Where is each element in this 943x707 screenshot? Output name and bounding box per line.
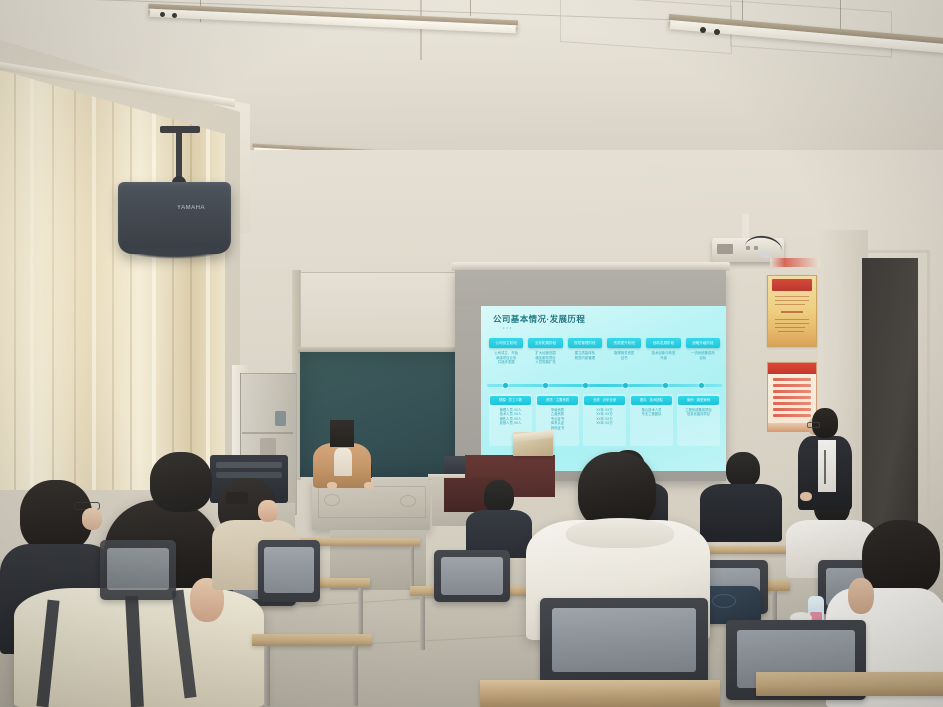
classroom-photo: YAMAHA 公司基本情况·发展历程 ••• 公司创立阶段 公司成立，开始 承接…	[0, 0, 943, 707]
vignette-overlay	[0, 0, 943, 707]
